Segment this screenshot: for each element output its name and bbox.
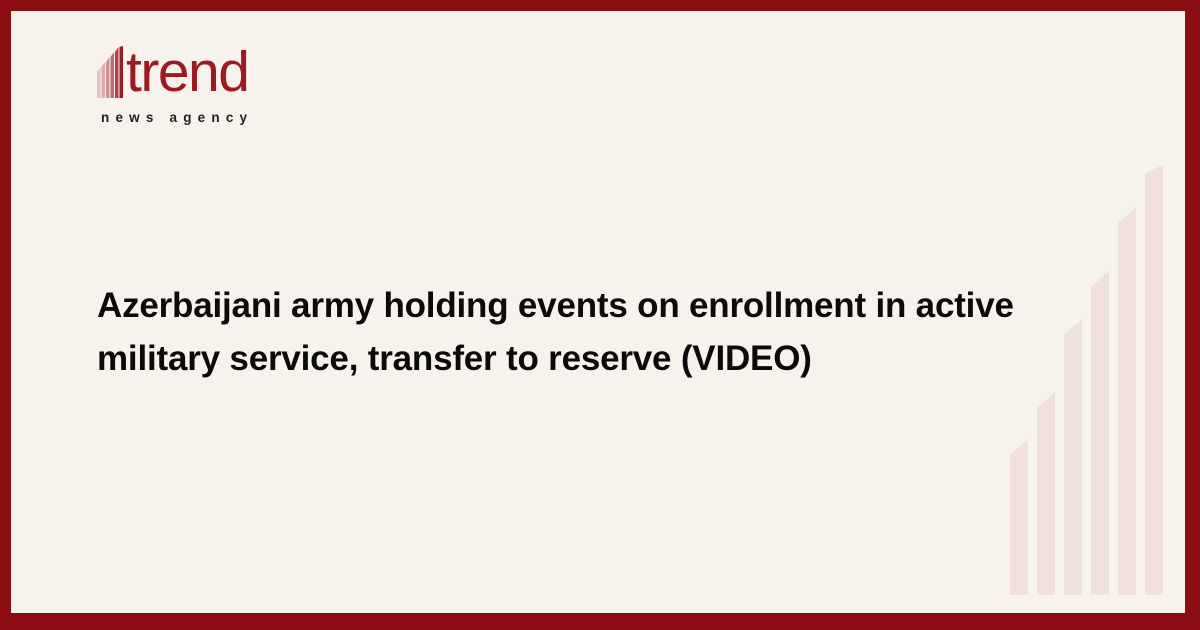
headline-text: Azerbaijani army holding events on enrol… (97, 279, 1107, 385)
logo-mark-row: trend (97, 46, 297, 104)
logo-wordmark: trend (126, 44, 248, 100)
card-canvas: trend news agency Azerbaijani army holdi… (11, 11, 1185, 613)
social-share-card: trend news agency Azerbaijani army holdi… (0, 0, 1200, 630)
logo-bar-5 (115, 47, 119, 98)
watermark-bar-1 (1010, 439, 1028, 595)
logo-bar-3 (106, 57, 110, 98)
watermark-bar-2 (1037, 392, 1055, 595)
logo-bar-4 (111, 52, 115, 98)
logo-bar-1 (97, 67, 101, 98)
trend-logo[interactable]: trend news agency (97, 46, 297, 125)
ascending-bars-mark-icon (97, 46, 125, 98)
watermark-bar-6 (1145, 165, 1163, 595)
logo-bar-6 (120, 46, 124, 98)
watermark-bar-5 (1118, 207, 1136, 595)
logo-tagline: news agency (101, 110, 297, 125)
logo-bar-2 (102, 62, 106, 98)
